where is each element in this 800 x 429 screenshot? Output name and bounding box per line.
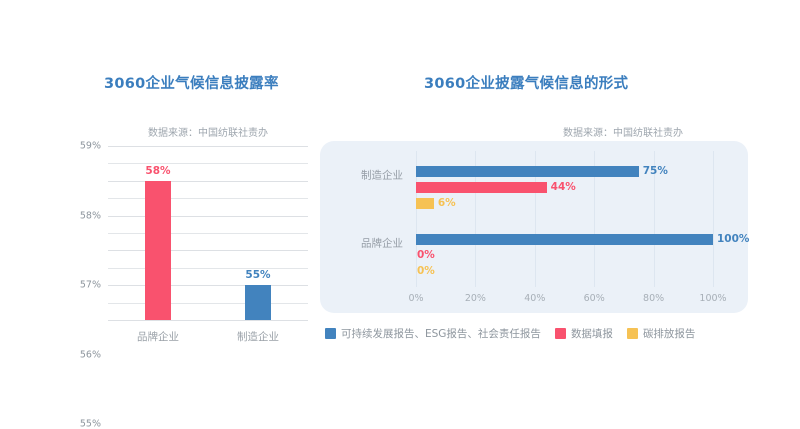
column-bar[interactable]: 55%制造企业 [245, 285, 271, 320]
gridline-minor [108, 268, 308, 269]
left-chart-title: 3060企业气候信息披露率 [104, 72, 279, 93]
gridline-minor [108, 233, 308, 234]
legend-item-label: 碳排放报告 [643, 326, 696, 341]
y-axis-category-label: 制造企业 [361, 168, 403, 183]
column-bar-value-label: 58% [145, 165, 170, 177]
horizontal-bar-value-label: 0% [417, 265, 435, 277]
legend-item[interactable]: 可持续发展报告、ESG报告、社会责任报告 [325, 326, 541, 341]
horizontal-bar-value-label: 75% [643, 165, 668, 177]
gridline-minor [108, 198, 308, 199]
horizontal-bar[interactable]: 44% [416, 182, 547, 193]
legend-item[interactable]: 碳排放报告 [627, 326, 696, 341]
gridline-major: 55% [108, 285, 308, 286]
column-bar[interactable]: 58%品牌企业 [145, 181, 171, 320]
right-chart-source-note: 数据来源：中国纺联社责办 [563, 124, 683, 139]
x-axis-tick-label: 20% [465, 293, 486, 304]
column-chart-disclosure-rate: 54%55%56%57%58%59%58%品牌企业55%制造企业 [76, 138, 326, 353]
gridline-minor [108, 163, 308, 164]
left-plot-area: 54%55%56%57%58%59%58%品牌企业55%制造企业 [108, 146, 308, 320]
x-axis-tick-label: 80% [643, 293, 664, 304]
column-bar-value-label: 55% [245, 269, 270, 281]
legend-swatch-icon [627, 328, 638, 339]
bar-chart-disclosure-formats: 0%20%40%60%80%100%制造企业75%44%6%品牌企业100%0%… [320, 141, 748, 313]
y-axis-tick-label: 59% [80, 141, 101, 152]
x-axis-tick-label: 60% [584, 293, 605, 304]
x-axis-tick-label: 40% [524, 293, 545, 304]
y-axis-tick-label: 55% [80, 419, 101, 429]
legend-item[interactable]: 数据填报 [555, 326, 613, 341]
y-axis-tick-label: 57% [80, 280, 101, 291]
x-axis-category-label: 制造企业 [237, 329, 279, 344]
x-axis-tick-label: 100% [699, 293, 726, 304]
horizontal-bar-value-label: 44% [551, 181, 576, 193]
left-chart-source-note: 数据来源：中国纺联社责办 [148, 124, 268, 139]
horizontal-bar[interactable]: 6% [416, 198, 434, 209]
gridline-major: 58% [108, 181, 308, 182]
gridline-major: 56% [108, 250, 308, 251]
chart-legend: 可持续发展报告、ESG报告、社会责任报告数据填报碳排放报告 [325, 326, 695, 341]
slide-canvas: 3060企业气候信息披露率 数据来源：中国纺联社责办 54%55%56%57%5… [0, 0, 800, 429]
legend-item-label: 可持续发展报告、ESG报告、社会责任报告 [341, 326, 541, 341]
y-axis-tick-label: 58% [80, 210, 101, 221]
right-plot-area: 0%20%40%60%80%100%制造企业75%44%6%品牌企业100%0%… [416, 151, 713, 287]
horizontal-bar-value-label: 6% [438, 197, 456, 209]
y-axis-category-label: 品牌企业 [361, 236, 403, 251]
gridline-minor [108, 303, 308, 304]
gridline-vertical [713, 151, 714, 287]
horizontal-bar[interactable]: 100% [416, 234, 713, 245]
x-axis-category-label: 品牌企业 [137, 329, 179, 344]
x-axis-tick-label: 0% [408, 293, 423, 304]
gridline-major: 59% [108, 146, 308, 147]
legend-swatch-icon [555, 328, 566, 339]
legend-swatch-icon [325, 328, 336, 339]
horizontal-bar-value-label: 100% [717, 233, 749, 245]
horizontal-bar[interactable]: 75% [416, 166, 639, 177]
horizontal-bar-value-label: 0% [417, 249, 435, 261]
legend-item-label: 数据填报 [571, 326, 613, 341]
right-chart-title: 3060企业披露气候信息的形式 [424, 72, 628, 93]
y-axis-tick-label: 56% [80, 349, 101, 360]
gridline-major: 57% [108, 216, 308, 217]
gridline-major: 54% [108, 320, 308, 321]
